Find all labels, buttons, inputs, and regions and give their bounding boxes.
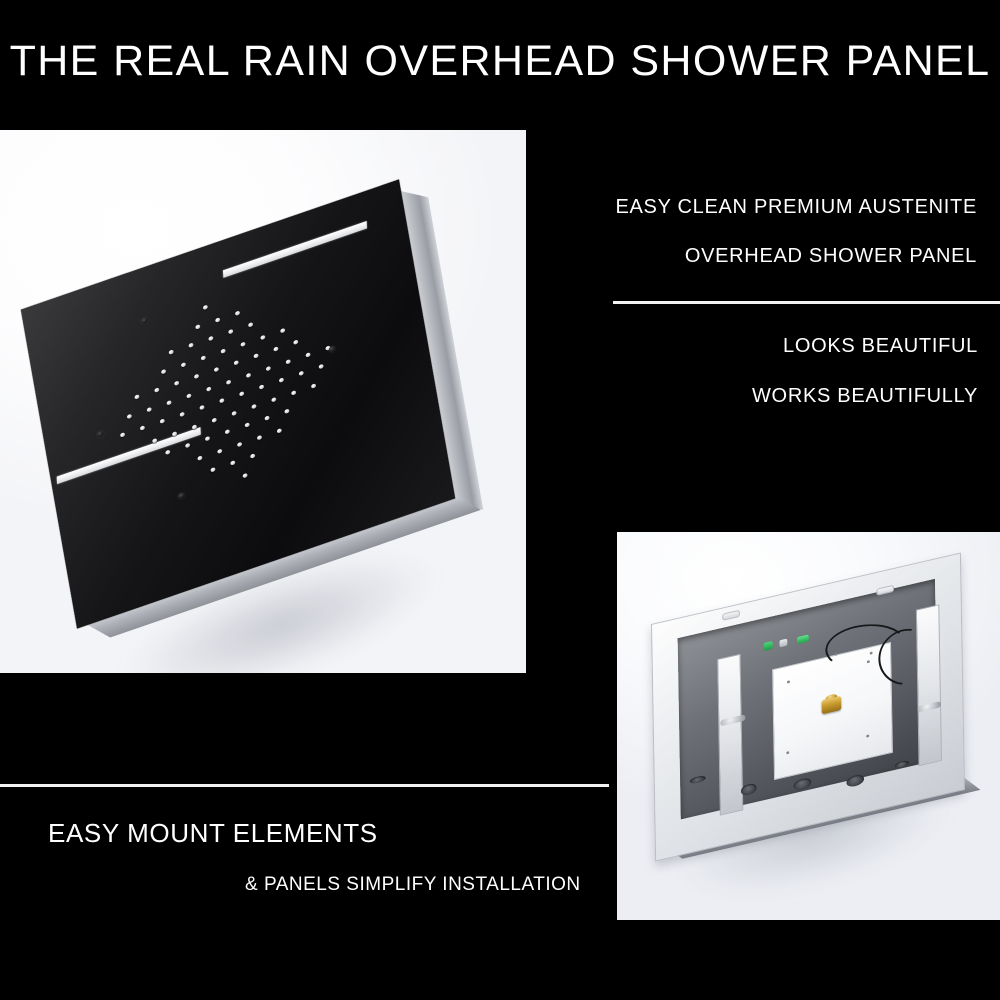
spray-nozzle	[257, 434, 262, 440]
spray-nozzle	[253, 353, 258, 359]
spray-nozzle	[260, 334, 265, 340]
spray-nozzle	[244, 422, 249, 428]
feature-easy-clean-line1: EASY CLEAN PREMIUM AUSTENITE	[615, 196, 977, 219]
divider-bottom	[0, 784, 609, 787]
spray-nozzle	[231, 410, 236, 416]
feature-beautiful-line2: WORKS BEAUTIFULLY	[752, 385, 978, 408]
spray-nozzle	[154, 387, 159, 393]
spray-nozzle	[311, 383, 316, 389]
spray-nozzle	[305, 352, 310, 358]
spray-nozzle	[280, 327, 285, 333]
spray-nozzle	[219, 398, 224, 404]
spray-nozzle	[271, 396, 276, 402]
waterfall-slot-top	[223, 221, 367, 278]
spray-nozzle	[318, 364, 323, 370]
spray-nozzle	[215, 317, 220, 323]
led-driver-chip	[779, 639, 787, 648]
spray-nozzle	[168, 349, 173, 355]
spray-nozzle	[174, 380, 179, 386]
spray-nozzle	[152, 438, 157, 444]
spray-nozzle	[264, 415, 269, 421]
spray-nozzle	[195, 324, 200, 330]
spray-nozzle	[217, 448, 222, 454]
spray-nozzle	[248, 322, 253, 328]
spray-nozzle	[181, 362, 186, 368]
spray-nozzle	[188, 342, 193, 348]
spray-nozzle	[273, 346, 278, 352]
feature-block-easy-clean: EASY CLEAN PREMIUM AUSTENITE OVERHEAD SH…	[615, 196, 977, 268]
spray-nozzle	[242, 472, 247, 478]
spray-nozzle	[251, 403, 256, 409]
feature-easy-mount-line1: EASY MOUNT ELEMENTS	[48, 818, 581, 849]
product-photo-main	[0, 130, 526, 673]
spray-nozzle	[211, 417, 216, 423]
spray-nozzle	[279, 377, 284, 383]
feature-block-easy-mount: EASY MOUNT ELEMENTS & PANELS SIMPLIFY IN…	[48, 818, 581, 896]
spray-nozzle	[127, 413, 132, 419]
chassis-rail-left	[717, 654, 743, 816]
spray-nozzle	[146, 406, 151, 412]
spray-nozzle	[240, 341, 245, 347]
spray-nozzle	[206, 386, 211, 392]
product-banner: THE REAL RAIN OVERHEAD SHOWER PANEL EASY…	[0, 0, 1000, 1000]
spray-nozzle	[246, 372, 251, 378]
spray-nozzle	[203, 305, 208, 311]
spray-nozzle	[161, 368, 166, 374]
spray-nozzle	[284, 408, 289, 414]
spray-nozzle	[220, 348, 225, 354]
spray-nozzle	[259, 384, 264, 390]
spray-nozzle	[172, 431, 177, 437]
spray-nozzle	[228, 329, 233, 335]
spray-nozzle	[235, 310, 240, 316]
spray-nozzle	[299, 371, 304, 377]
led-driver-green-b	[797, 634, 809, 644]
chassis-rail-right	[916, 604, 942, 766]
spray-nozzle	[134, 394, 139, 400]
spray-nozzle	[186, 393, 191, 399]
spray-nozzle	[192, 424, 197, 430]
spray-nozzle	[120, 432, 125, 438]
nozzle-grid	[84, 260, 370, 531]
spray-nozzle	[201, 355, 206, 361]
spray-nozzle	[140, 425, 145, 431]
spray-nozzle	[226, 379, 231, 385]
chassis-mount-tab	[722, 610, 740, 621]
spray-nozzle	[208, 336, 213, 342]
spray-nozzle	[250, 453, 255, 459]
spray-nozzle	[293, 339, 298, 345]
page-title: THE REAL RAIN OVERHEAD SHOWER PANEL	[0, 40, 1000, 83]
spray-nozzle	[225, 429, 230, 435]
spray-nozzle	[185, 443, 190, 449]
spray-nozzle	[194, 374, 199, 380]
spray-nozzle	[266, 365, 271, 371]
spray-nozzle	[210, 467, 215, 473]
spray-nozzle	[199, 405, 204, 411]
product-photo-mounting-chassis	[617, 532, 1000, 920]
led-driver-green-a	[764, 641, 773, 651]
divider-right	[613, 301, 1000, 304]
feature-easy-clean-line2: OVERHEAD SHOWER PANEL	[615, 245, 977, 268]
panel-screw	[141, 317, 149, 325]
feature-beautiful-line1: LOOKS BEAUTIFUL	[752, 335, 978, 358]
spray-nozzle	[166, 400, 171, 406]
spray-nozzle	[237, 441, 242, 447]
spray-nozzle	[214, 367, 219, 373]
feature-easy-mount-line2: & PANELS SIMPLIFY INSTALLATION	[245, 874, 581, 896]
spray-nozzle	[234, 360, 239, 366]
spray-nozzle	[205, 436, 210, 442]
spray-nozzle	[160, 418, 165, 424]
spray-nozzle	[277, 428, 282, 434]
spray-nozzle	[165, 449, 170, 455]
spray-nozzle	[239, 391, 244, 397]
spray-nozzle	[291, 390, 296, 396]
spray-nozzle	[197, 455, 202, 461]
spray-nozzle	[285, 359, 290, 365]
spray-nozzle	[230, 460, 235, 466]
feature-block-beautiful: LOOKS BEAUTIFUL WORKS BEAUTIFULLY	[752, 335, 978, 408]
spray-nozzle	[179, 412, 184, 418]
